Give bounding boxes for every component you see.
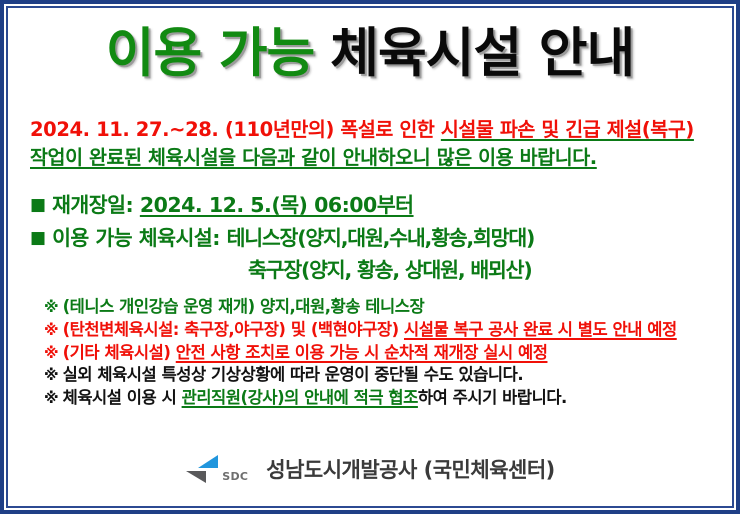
intro-text-plain: 2024. 11. 27.~28. (110년만의) 폭설로 인한 [30,118,441,141]
square-bullet-icon: ■ [30,228,46,248]
asterisk-icon: ※ [44,344,59,362]
note-text-other-facilities-emphasis: 안전 사항 조치로 이용 가능 시 순차적 재개장 실시 예정 [176,343,548,362]
note-text-cooperation-emphasis: 관리직원(강사)의 안내에 적극 협조 [182,388,418,407]
note-text-tancheon-emphasis: 시설물 복구 공사 완료 시 별도 안내 예정 [404,320,677,339]
bullet-value-soccer-fields: 축구장(양지, 황송, 상대원, 배뫼산) [248,258,532,282]
bullet-reopen-date: ■재개장일: 2024. 12. 5.(목) 06:00부터 [30,192,724,219]
note-item: ※(탄천변체육시설: 축구장,야구장) 및 (백현야구장) 시설물 복구 공사 … [44,319,724,341]
bullet-label-facilities: 이용 가능 체육시설: [52,226,227,250]
bullet-list: ■재개장일: 2024. 12. 5.(목) 06:00부터 ■이용 가능 체육… [30,192,724,284]
note-item: ※실외 체육시설 특성상 기상상황에 따라 운영이 중단될 수도 있습니다. [44,364,724,386]
note-text-weather-warning: 실외 체육시설 특성상 기상상황에 따라 운영이 중단될 수도 있습니다. [63,365,524,384]
note-text-cooperation-after: 하여 주시기 바랍니다. [418,388,567,407]
notice-poster: 이용 가능체육시설 안내 2024. 11. 27.~28. (110년만의) … [0,0,740,514]
bullet-value-reopen-date: 2024. 12. 5.(목) 06:00부터 [140,193,414,217]
notice-inner-frame: 이용 가능체육시설 안내 2024. 11. 27.~28. (110년만의) … [6,6,734,508]
intro-text-emphasis: 시설물 파손 및 긴급 제설(복구) [441,118,694,141]
asterisk-icon: ※ [44,389,59,407]
footer: SDC 성남도시개발공사 (국민체육센터) [8,454,732,484]
intro-line-1: 2024. 11. 27.~28. (110년만의) 폭설로 인한 시설물 파손… [30,116,724,144]
note-text-tennis-lessons: (테니스 개인강습 운영 재개) 양지,대원,황송 테니스장 [63,297,425,316]
bullet-value-soccer-fields-row: 축구장(양지, 황송, 상대원, 배뫼산) [248,257,724,284]
asterisk-icon: ※ [44,298,59,316]
note-item: ※(기타 체육시설) 안전 사항 조치로 이용 가능 시 순차적 재개장 실시 … [44,342,724,364]
bullet-available-facilities: ■이용 가능 체육시설: 테니스장(양지,대원,수내,황송,희망대) [30,225,724,252]
note-text-tancheon-plain: (탄천변체육시설: 축구장,야구장) 및 (백현야구장) [63,320,404,339]
asterisk-icon: ※ [44,321,59,339]
asterisk-icon: ※ [44,366,59,384]
intro-text-line2: 작업이 완료된 체육시설을 다음과 같이 안내하오니 많은 이용 바랍니다. [30,146,597,169]
square-bullet-icon: ■ [30,195,46,215]
sdc-logo: SDC [185,454,248,484]
notes-list: ※(테니스 개인강습 운영 재개) 양지,대원,황송 테니스장 ※(탄천변체육시… [44,296,724,409]
title-green-text: 이용 가능 [106,23,315,84]
bullet-label-reopen-date: 재개장일: [52,193,140,217]
bullet-value-tennis-courts: 테니스장(양지,대원,수내,황송,희망대) [227,226,535,250]
intro-line-2: 작업이 완료된 체육시설을 다음과 같이 안내하오니 많은 이용 바랍니다. [30,144,724,172]
title-black-text: 체육시설 안내 [330,23,634,84]
note-item: ※(테니스 개인강습 운영 재개) 양지,대원,황송 테니스장 [44,296,724,318]
note-text-other-facilities-plain: (기타 체육시설) [63,343,176,362]
sdc-logo-mark-icon [185,454,219,484]
organization-name: 성남도시개발공사 (국민체육센터) [266,454,555,484]
sdc-logo-text: SDC [222,470,248,483]
note-item: ※체육시설 이용 시 관리직원(강사)의 안내에 적극 협조하여 주시기 바랍니… [44,387,724,409]
intro-paragraph: 2024. 11. 27.~28. (110년만의) 폭설로 인한 시설물 파손… [30,116,724,173]
note-text-cooperation-before: 체육시설 이용 시 [63,388,182,407]
page-title: 이용 가능체육시설 안내 [16,26,724,82]
